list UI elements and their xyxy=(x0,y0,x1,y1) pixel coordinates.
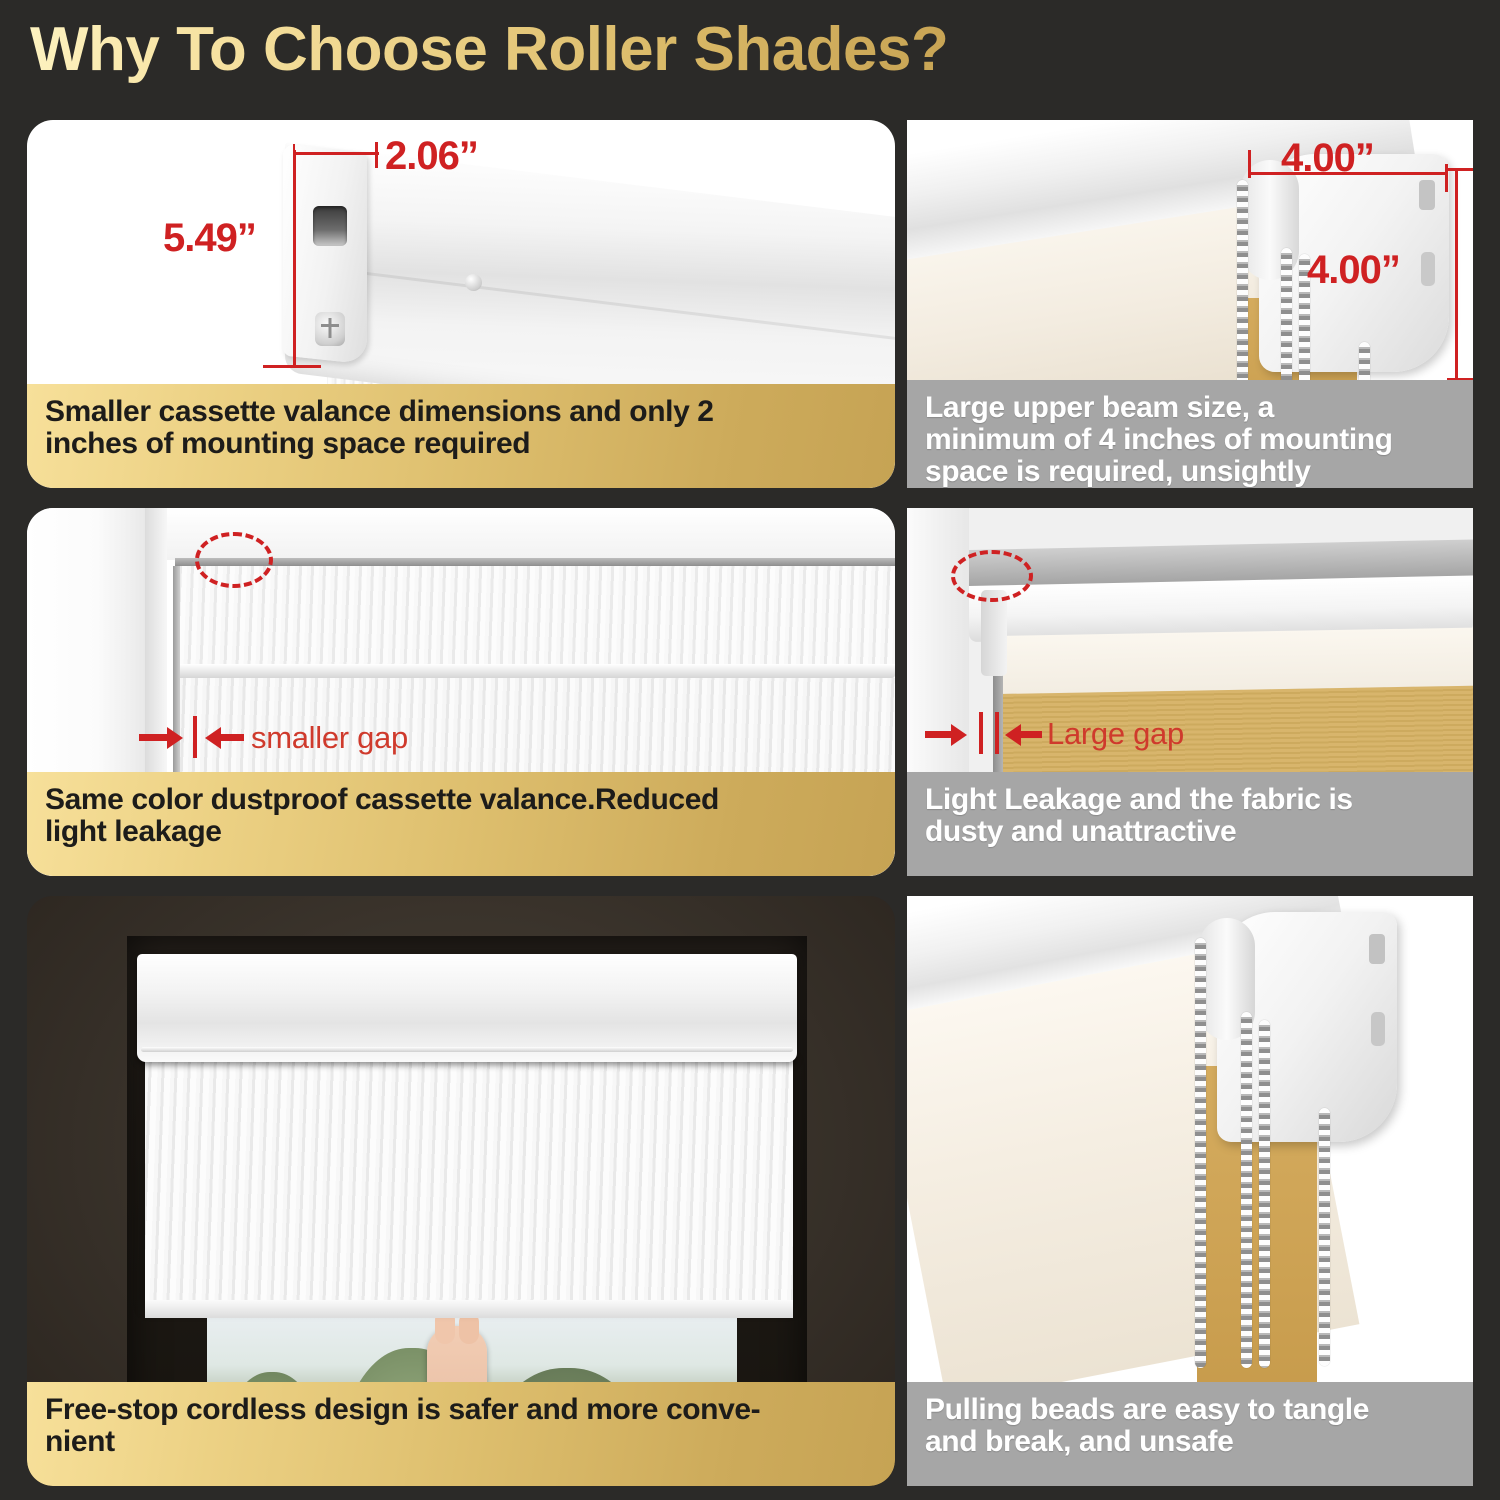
highlight-circle-icon xyxy=(951,550,1033,602)
caption-line-3: space is required, unsightly xyxy=(925,456,1457,488)
comparison-grid: 2.06” 5.49” Smaller cassette valance dim… xyxy=(0,0,1500,1500)
side-bracket xyxy=(981,590,1007,676)
caption-line-2: inches of mounting space required xyxy=(45,428,879,460)
dimension-label-width: 2.06” xyxy=(385,134,478,179)
caption-cassette-valance-dimensions: Smaller cassette valance dimensions and … xyxy=(27,384,895,488)
gap-arrow-left-head xyxy=(951,724,967,746)
dim-tick-top xyxy=(1447,168,1473,171)
caption-line-1: Same color dustproof cassette valance.Re… xyxy=(45,784,879,816)
caption-line-1: Smaller cassette valance dimensions and … xyxy=(45,396,879,428)
caption-dustproof-cassette: Same color dustproof cassette valance.Re… xyxy=(27,772,895,876)
gap-marker-right xyxy=(995,712,999,754)
dim-tick-right xyxy=(375,142,378,168)
dimension-label-height: 5.49” xyxy=(163,216,256,261)
dimension-label-height: 4.00” xyxy=(1307,248,1400,293)
panel-large-upper-beam: 4.00” 4.00” Large upper beam size, a min… xyxy=(907,120,1473,488)
shade-bottom-hem xyxy=(145,1300,793,1318)
dim-line-height xyxy=(1455,168,1458,380)
caption-line-2: light leakage xyxy=(45,816,879,848)
gap-marker-left xyxy=(979,712,983,754)
valance-slot xyxy=(313,206,347,246)
dim-line-height xyxy=(293,150,296,368)
valance-rail xyxy=(175,558,895,566)
caption-line-1: Free-stop cordless design is safer and m… xyxy=(45,1394,879,1426)
bead-chain-1 xyxy=(1195,938,1206,1368)
dim-tick-bottom xyxy=(263,365,321,368)
highlight-circle-icon xyxy=(195,532,273,588)
bead-chain-4 xyxy=(1319,1108,1330,1366)
bead-chain-2 xyxy=(1241,1012,1252,1368)
roller-shade-panel xyxy=(145,1056,793,1306)
dimension-label-width: 4.00” xyxy=(1281,136,1374,181)
caption-light-leakage: Light Leakage and the fabric is dusty an… xyxy=(907,772,1473,876)
bead-chain-2 xyxy=(1281,248,1292,390)
bead-chain-1 xyxy=(1237,180,1248,390)
caption-line-2: and break, and unsafe xyxy=(925,1426,1457,1458)
caption-free-stop-cordless: Free-stop cordless design is safer and m… xyxy=(27,1382,895,1486)
caption-large-upper-beam: Large upper beam size, a minimum of 4 in… xyxy=(907,380,1473,488)
caption-line-2: dusty and unattractive xyxy=(925,816,1457,848)
cassette-valance xyxy=(137,954,797,1062)
shade-divider-bar xyxy=(177,664,895,678)
valance-screw-lower xyxy=(315,312,345,346)
panel-cassette-valance-dimensions: 2.06” 5.49” Smaller cassette valance dim… xyxy=(27,120,895,488)
dim-line-width xyxy=(293,152,379,155)
caption-line-2: minimum of 4 inches of mounting xyxy=(925,424,1457,456)
bead-chain-3 xyxy=(1259,1020,1270,1368)
panel-dustproof-cassette-small-gap: smaller gap Same color dustproof cassett… xyxy=(27,508,895,876)
gap-arrow-right-shaft xyxy=(220,734,244,741)
gap-arrow-left-head xyxy=(167,727,183,749)
gap-label-smaller: smaller gap xyxy=(251,720,408,756)
caption-pulling-beads: Pulling beads are easy to tangle and bre… xyxy=(907,1382,1473,1486)
gap-arrow-right-head xyxy=(1005,724,1021,746)
shade-upper-section xyxy=(175,566,895,664)
caption-line-1: Light Leakage and the fabric is xyxy=(925,784,1457,816)
gap-arrow-right-shaft xyxy=(1020,731,1042,738)
panel-light-leakage-large-gap: Large gap Light Leakage and the fabric i… xyxy=(907,508,1473,876)
window-header xyxy=(167,508,895,560)
gap-label-large: Large gap xyxy=(1047,716,1184,752)
gap-arrow-left-shaft xyxy=(925,731,953,738)
gap-arrow-left-shaft xyxy=(139,734,169,741)
caption-line-1: Pulling beads are easy to tangle xyxy=(925,1394,1457,1426)
valance-screw-upper xyxy=(465,274,482,291)
caption-line-1: Large upper beam size, a xyxy=(925,392,1457,424)
gap-marker xyxy=(193,716,197,758)
panel-pulling-beads-tangle: Pulling beads are easy to tangle and bre… xyxy=(907,896,1473,1486)
panel-free-stop-cordless: Free-stop cordless design is safer and m… xyxy=(27,896,895,1486)
gap-arrow-right-head xyxy=(205,727,221,749)
caption-line-2: nient xyxy=(45,1426,879,1458)
